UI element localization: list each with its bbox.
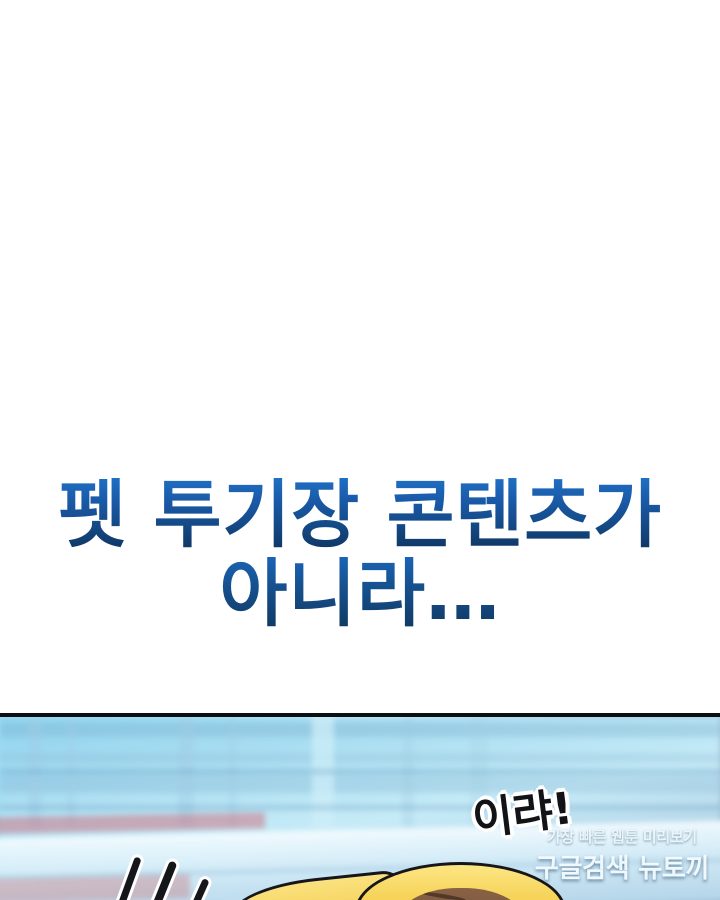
rider-with-straw-hat	[230, 852, 560, 900]
stadium-stand-band	[0, 723, 720, 737]
narration-text-block: 펫 투기장 콘텐츠가 아니라…	[0, 478, 720, 633]
stadium-rail	[0, 769, 720, 774]
narration-line-1: 펫 투기장 콘텐츠가	[0, 478, 720, 553]
narration-panel: 펫 투기장 콘텐츠가 아니라…	[0, 0, 720, 715]
stadium-stand-band	[0, 753, 720, 763]
narration-line-2: 아니라…	[0, 557, 720, 632]
watermark-tagline: 가장 빠른 웹툰 미리보기	[524, 826, 720, 847]
stadium-rail	[0, 805, 720, 810]
webtoon-page: 펫 투기장 콘텐츠가 아니라…	[0, 0, 720, 900]
watermark-text-block: 가장 빠른 웹툰 미리보기 구글검색 뉴토끼	[524, 826, 720, 885]
hair-strand	[418, 890, 466, 900]
watermark-site-name: 구글검색 뉴토끼	[524, 848, 720, 885]
stadium-stand-band	[0, 775, 720, 793]
